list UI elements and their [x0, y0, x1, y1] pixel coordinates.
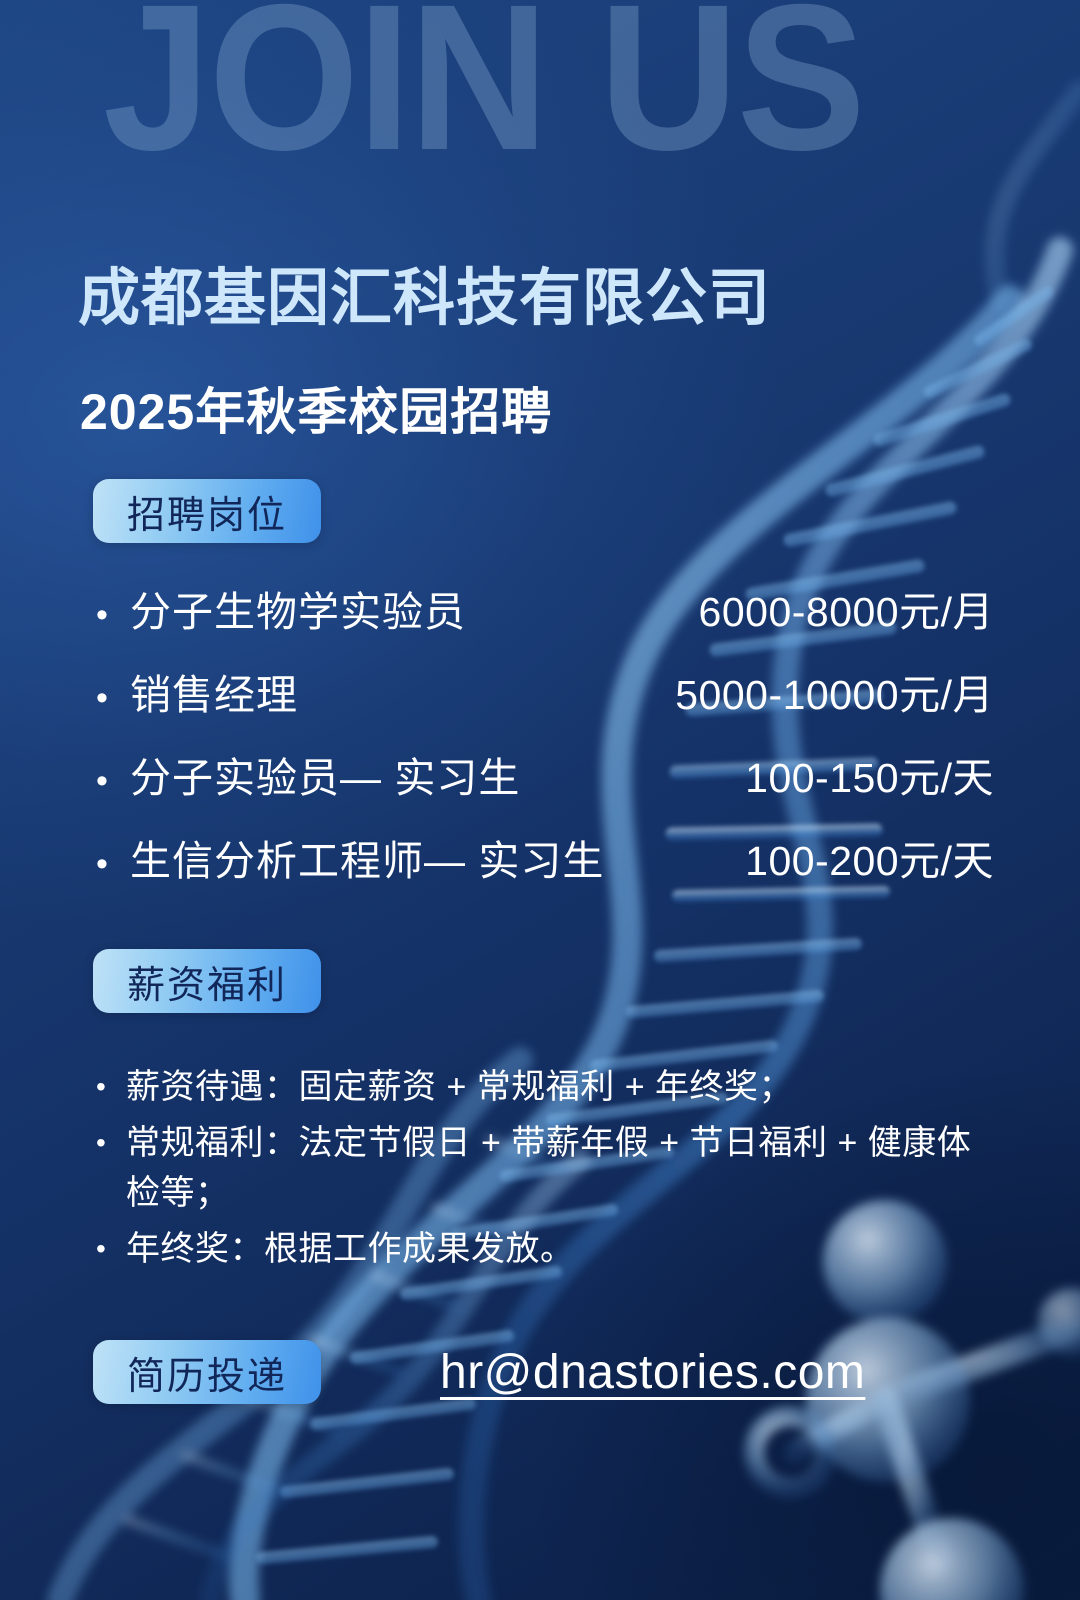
section-badge-salary-benefits: 薪资福利	[93, 949, 321, 1013]
benefit-text: 薪资待遇：固定薪资 + 常规福利 + 年终奖；	[126, 1062, 1004, 1112]
bullet-icon: •	[96, 1062, 126, 1112]
benefit-text: 年终奖：根据工作成果发放。	[126, 1224, 1004, 1274]
section-badge-jobs: 招聘岗位	[93, 479, 321, 543]
bullet-icon: •	[96, 847, 130, 881]
jobs-list: • 分子生物学实验员 6000-8000元/月 • 销售经理 5000-1000…	[96, 578, 994, 910]
join-us-watermark: JOIN US	[103, 0, 864, 182]
job-title: 生信分析工程师— 实习生	[130, 827, 604, 887]
bullet-icon: •	[96, 1118, 126, 1168]
benefit-item: • 薪资待遇：固定薪资 + 常规福利 + 年终奖；	[96, 1062, 1004, 1112]
section-badge-resume: 简历投递	[93, 1340, 321, 1404]
job-salary: 5000-10000元/月	[298, 661, 994, 721]
recruitment-poster: JOIN US 成都基因汇科技有限公司 2025年秋季校园招聘 招聘岗位 • 分…	[0, 0, 1080, 1600]
bullet-icon: •	[96, 681, 130, 715]
job-title: 分子生物学实验员	[130, 578, 466, 638]
resume-email-link[interactable]: hr@dnastories.com	[440, 1345, 865, 1400]
campaign-title: 2025年秋季校园招聘	[80, 384, 552, 442]
benefit-item: • 常规福利：法定节假日 + 带薪年假 + 节日福利 + 健康体检等；	[96, 1118, 1004, 1218]
bullet-icon: •	[96, 598, 130, 632]
job-row: • 分子生物学实验员 6000-8000元/月	[96, 578, 994, 661]
job-salary: 100-150元/天	[520, 744, 994, 804]
job-salary: 6000-8000元/月	[466, 578, 994, 638]
company-name: 成都基因汇科技有限公司	[78, 264, 771, 333]
job-row: • 生信分析工程师— 实习生 100-200元/天	[96, 827, 994, 910]
job-salary: 100-200元/天	[604, 827, 994, 887]
benefit-text: 常规福利：法定节假日 + 带薪年假 + 节日福利 + 健康体检等；	[126, 1118, 1004, 1218]
benefit-item: • 年终奖：根据工作成果发放。	[96, 1224, 1004, 1274]
job-row: • 销售经理 5000-10000元/月	[96, 661, 994, 744]
benefits-list: • 薪资待遇：固定薪资 + 常规福利 + 年终奖； • 常规福利：法定节假日 +…	[96, 1062, 1004, 1280]
job-row: • 分子实验员— 实习生 100-150元/天	[96, 744, 994, 827]
job-title: 销售经理	[130, 661, 298, 721]
bullet-icon: •	[96, 1224, 126, 1274]
bullet-icon: •	[96, 764, 130, 798]
job-title: 分子实验员— 实习生	[130, 744, 520, 804]
